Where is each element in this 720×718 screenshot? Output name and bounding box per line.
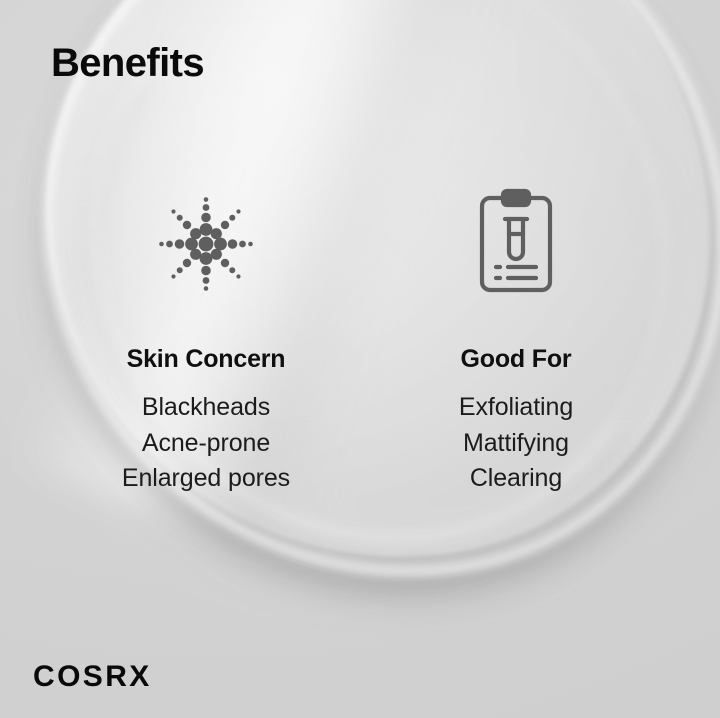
- page-title: Benefits: [51, 41, 204, 85]
- sparkle-burst-icon: [147, 185, 265, 303]
- list-item: Mattifying: [370, 426, 662, 462]
- list-item: Acne-prone: [42, 426, 370, 462]
- benefit-column-skin-concern: Skin Concern Blackheads Acne-prone Enlar…: [0, 182, 370, 497]
- benefit-list-good-for: Exfoliating Mattifying Clearing: [370, 390, 662, 497]
- benefit-list-skin-concern: Blackheads Acne-prone Enlarged pores: [42, 390, 370, 497]
- list-item: Clearing: [370, 461, 662, 497]
- brand-logo: COSRX: [33, 660, 152, 694]
- benefit-column-good-for: Good For Exfoliating Mattifying Clearing: [370, 182, 720, 497]
- benefit-columns: Skin Concern Blackheads Acne-prone Enlar…: [0, 182, 720, 497]
- column-heading-good-for: Good For: [370, 344, 662, 374]
- icon-slot: [370, 182, 662, 306]
- icon-slot: [42, 182, 370, 306]
- content-layer: Benefits: [0, 0, 720, 718]
- list-item: Blackheads: [42, 390, 370, 426]
- product-benefits-graphic: Benefits: [0, 0, 720, 718]
- column-heading-skin-concern: Skin Concern: [42, 344, 370, 374]
- list-item: Exfoliating: [370, 390, 662, 426]
- list-item: Enlarged pores: [42, 461, 370, 497]
- clipboard-test-tube-icon: [468, 188, 564, 300]
